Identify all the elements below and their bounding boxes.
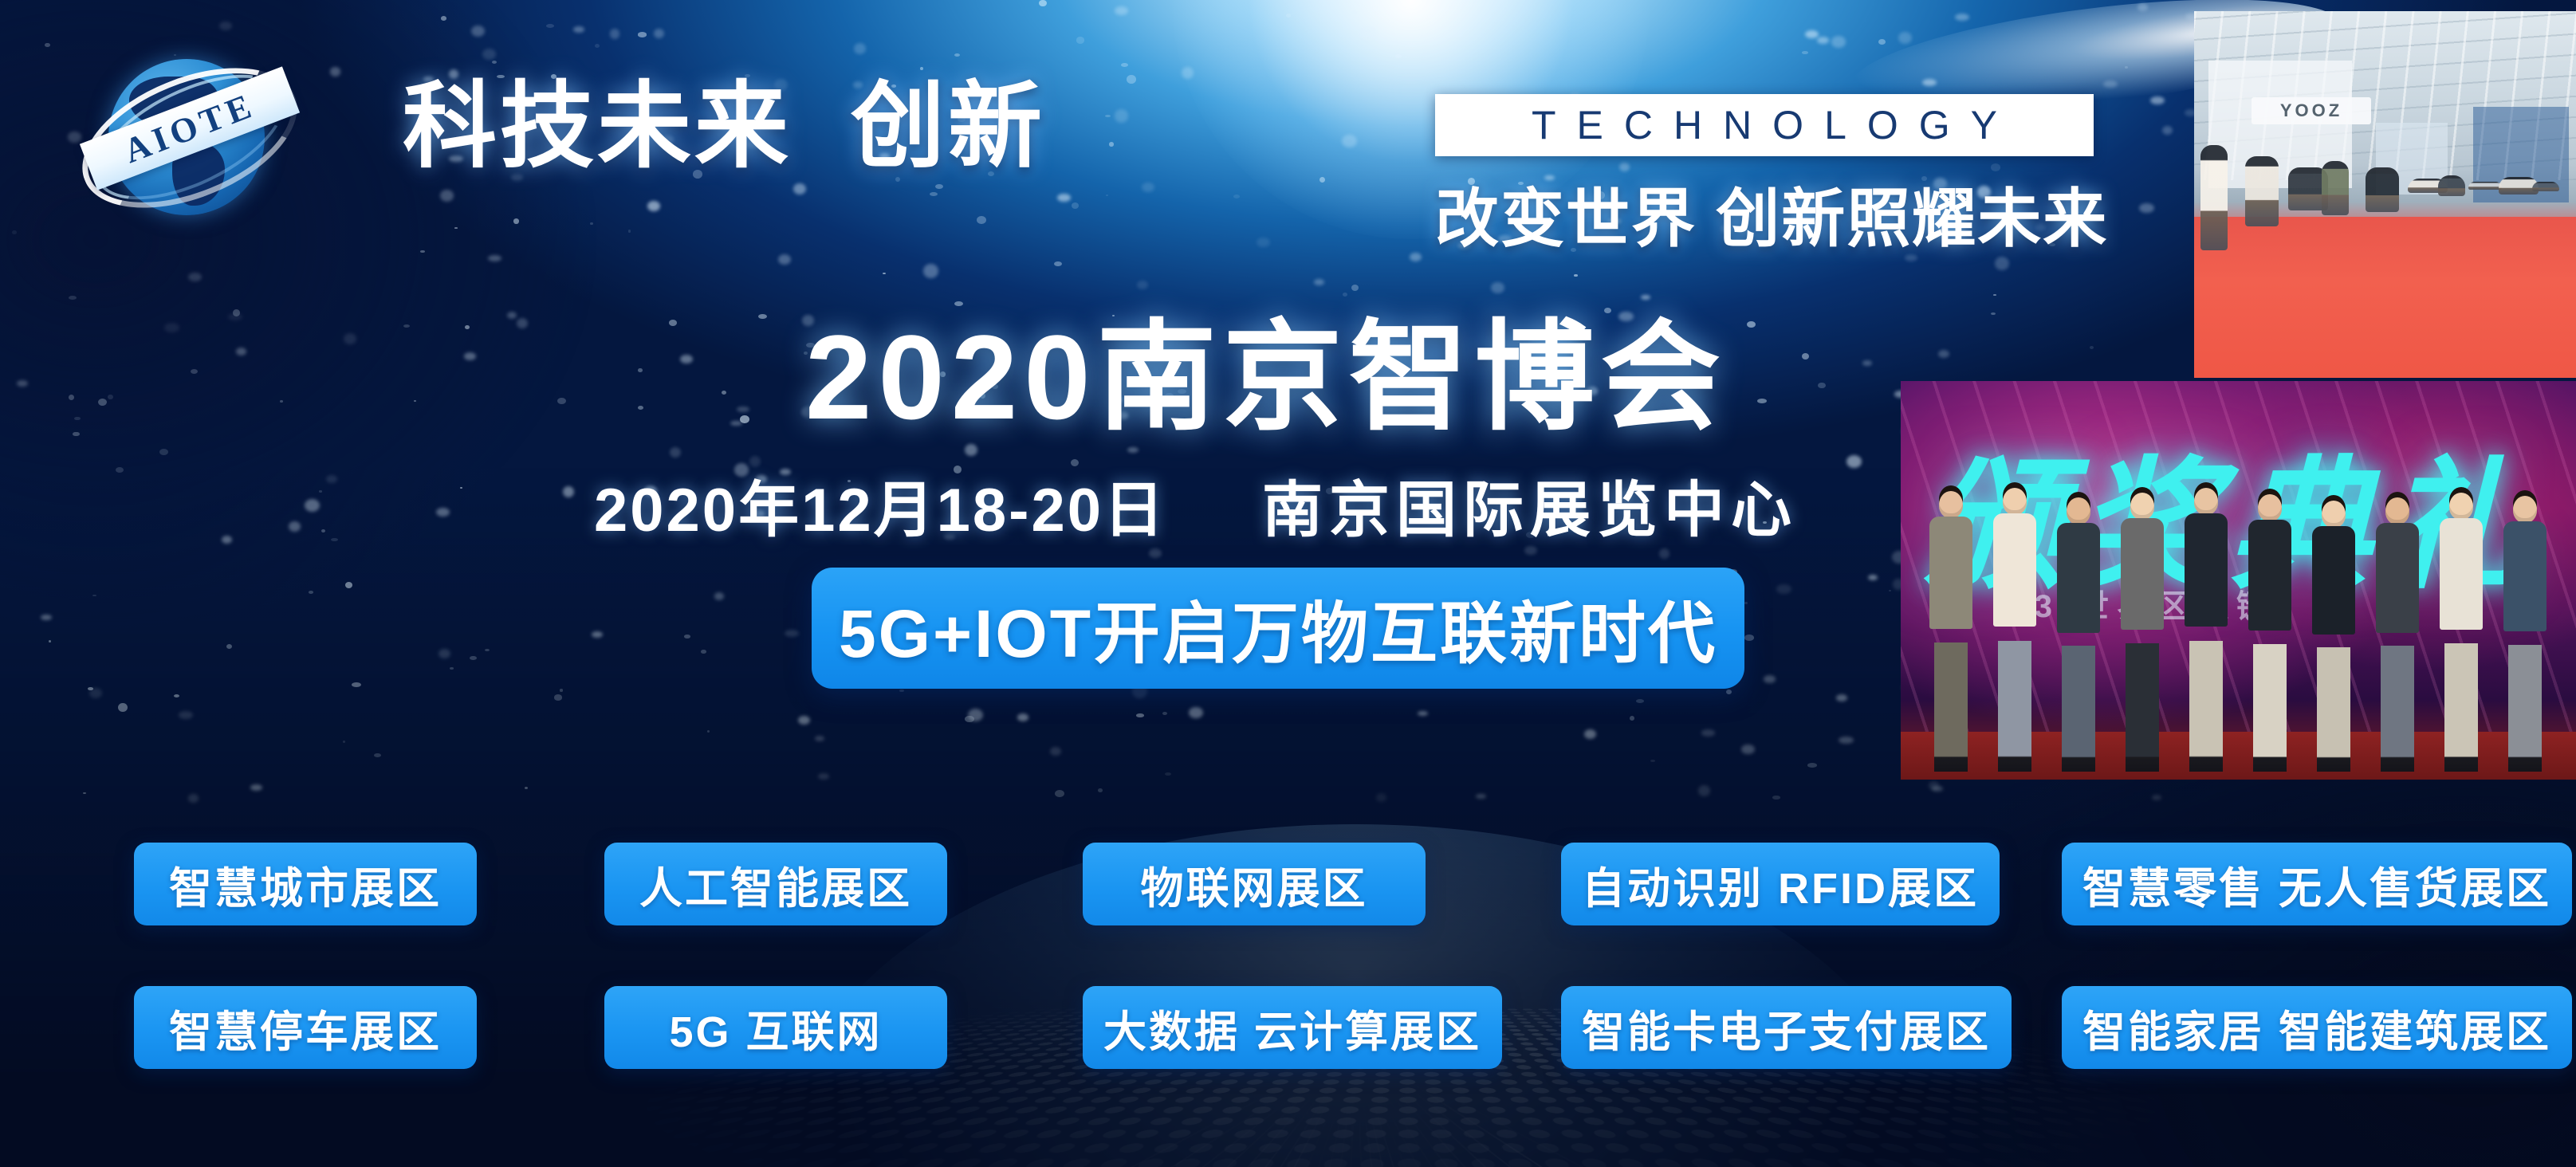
zone-chip[interactable]: 智能卡电子支付展区 — [1561, 986, 2012, 1069]
zone-chip-label: 自动识别 RFID展区 — [1582, 853, 1979, 916]
person-legs — [2508, 645, 2542, 772]
visitor-silhouette — [2468, 182, 2502, 190]
zone-chip-label: 智能家居 智能建筑展区 — [2082, 996, 2551, 1059]
zone-chip[interactable]: 智能家居 智能建筑展区 — [2062, 986, 2572, 1069]
person-head — [2513, 496, 2537, 523]
expo-red-carpet — [2194, 217, 2576, 378]
visitor-silhouette — [2200, 145, 2228, 250]
person-legs — [2381, 646, 2414, 772]
person-torso — [2121, 518, 2164, 630]
event-venue: 南京国际展览中心 — [1262, 461, 1798, 548]
person-head — [2130, 493, 2154, 520]
person-torso — [2185, 513, 2228, 627]
award-winner — [2307, 501, 2360, 772]
person-legs — [2062, 646, 2095, 772]
visitor-silhouette — [2532, 182, 2559, 191]
person-head — [2449, 493, 2473, 520]
zone-chip[interactable]: 人工智能展区 — [604, 843, 947, 925]
person-torso — [2440, 518, 2483, 630]
award-winner — [2435, 493, 2488, 772]
zone-chip-label: 物联网展区 — [1141, 853, 1368, 916]
zone-chip[interactable]: 智慧停车展区 — [134, 986, 477, 1069]
award-ceremony-photo: 颁奖典礼 W3 世界区块链 — [1901, 381, 2576, 780]
zone-chip[interactable]: 智慧城市展区 — [134, 843, 477, 925]
person-head — [2194, 488, 2218, 515]
zone-chip-label: 智慧停车展区 — [169, 996, 442, 1059]
technology-subtitle: 改变世界 创新照耀未来 — [1435, 167, 2105, 260]
award-winner — [2371, 497, 2424, 772]
award-winner — [2499, 496, 2551, 772]
zone-chip-label: 智慧城市展区 — [169, 853, 442, 916]
person-torso — [2312, 526, 2355, 635]
technology-label: TECHNOLOGY — [1511, 102, 2018, 148]
headline-part-1: 科技未来 — [403, 78, 792, 177]
person-legs — [2253, 644, 2287, 772]
person-legs — [2317, 647, 2350, 772]
person-head — [2067, 497, 2090, 525]
person-torso — [2057, 523, 2100, 633]
person-torso — [2376, 523, 2419, 633]
person-legs — [2189, 641, 2223, 772]
person-torso — [1993, 513, 2036, 627]
award-winner — [2180, 488, 2232, 772]
award-winner — [2052, 497, 2105, 772]
zone-row-2: 智慧停车展区5G 互联网大数据 云计算展区智能卡电子支付展区智能家居 智能建筑展… — [0, 969, 2576, 1112]
page-title: 2020南京智博会 — [805, 281, 1727, 454]
visitor-silhouette — [2245, 156, 2279, 226]
event-banner: AIOTE 科技未来 创新 TECHNOLOGY 改变世界 创新照耀未来 202… — [0, 0, 2576, 1167]
technology-badge: TECHNOLOGY — [1435, 94, 2094, 156]
person-legs — [1998, 641, 2031, 772]
zone-chip[interactable]: 智慧零售 无人售货展区 — [2062, 843, 2572, 925]
zone-chip[interactable]: 物联网展区 — [1083, 843, 1426, 925]
headline-row: 科技未来 创新 — [403, 78, 1045, 177]
person-head — [2385, 497, 2409, 525]
exhibition-zones: 智慧城市展区人工智能展区物联网展区自动识别 RFID展区智慧零售 无人售货展区 … — [0, 825, 2576, 1112]
zone-chip-label: 人工智能展区 — [639, 853, 912, 916]
award-winner — [2116, 493, 2169, 772]
headline-part-2: 创新 — [851, 78, 1045, 177]
person-head — [1939, 491, 1963, 518]
person-legs — [2126, 643, 2159, 772]
person-torso — [2503, 521, 2547, 631]
person-head — [2322, 501, 2346, 528]
zone-chip[interactable]: 5G 互联网 — [604, 986, 947, 1069]
zone-chip-label: 智能卡电子支付展区 — [1582, 996, 1991, 1059]
slogan-text: 5G+IOT开启万物互联新时代 — [839, 580, 1717, 677]
booth-sign-yooz: YOOZ — [2252, 97, 2371, 124]
zone-row-1: 智慧城市展区人工智能展区物联网展区自动识别 RFID展区智慧零售 无人售货展区 — [0, 825, 2576, 969]
person-torso — [2248, 520, 2291, 631]
visitor-silhouette — [2322, 161, 2349, 215]
person-legs — [1934, 642, 1968, 772]
award-winner — [1925, 491, 1977, 772]
aiote-globe-logo: AIOTE — [70, 33, 309, 233]
person-torso — [1929, 517, 1972, 629]
person-head — [2258, 494, 2282, 521]
zone-chip-label: 大数据 云计算展区 — [1103, 996, 1481, 1059]
award-winner — [1988, 488, 2041, 772]
zone-chip-label: 智慧零售 无人售货展区 — [2082, 853, 2551, 916]
visitor-silhouette — [2366, 167, 2399, 212]
zone-chip[interactable]: 大数据 云计算展区 — [1083, 986, 1502, 1069]
award-winner — [2244, 494, 2296, 772]
person-legs — [2444, 643, 2478, 772]
zone-chip-label: 5G 互联网 — [669, 996, 882, 1059]
visitor-silhouette — [2438, 175, 2465, 196]
event-info-row: 2020年12月18-20日 南京国际展览中心 — [594, 461, 1798, 548]
technology-block: TECHNOLOGY 改变世界 创新照耀未来 — [1435, 94, 2105, 260]
zone-chip[interactable]: 自动识别 RFID展区 — [1561, 843, 2000, 925]
slogan-banner: 5G+IOT开启万物互联新时代 — [812, 568, 1744, 689]
expo-hall-photo: YOOZ — [2194, 11, 2576, 378]
event-date: 2020年12月18-20日 — [594, 461, 1166, 548]
person-head — [2003, 488, 2027, 515]
